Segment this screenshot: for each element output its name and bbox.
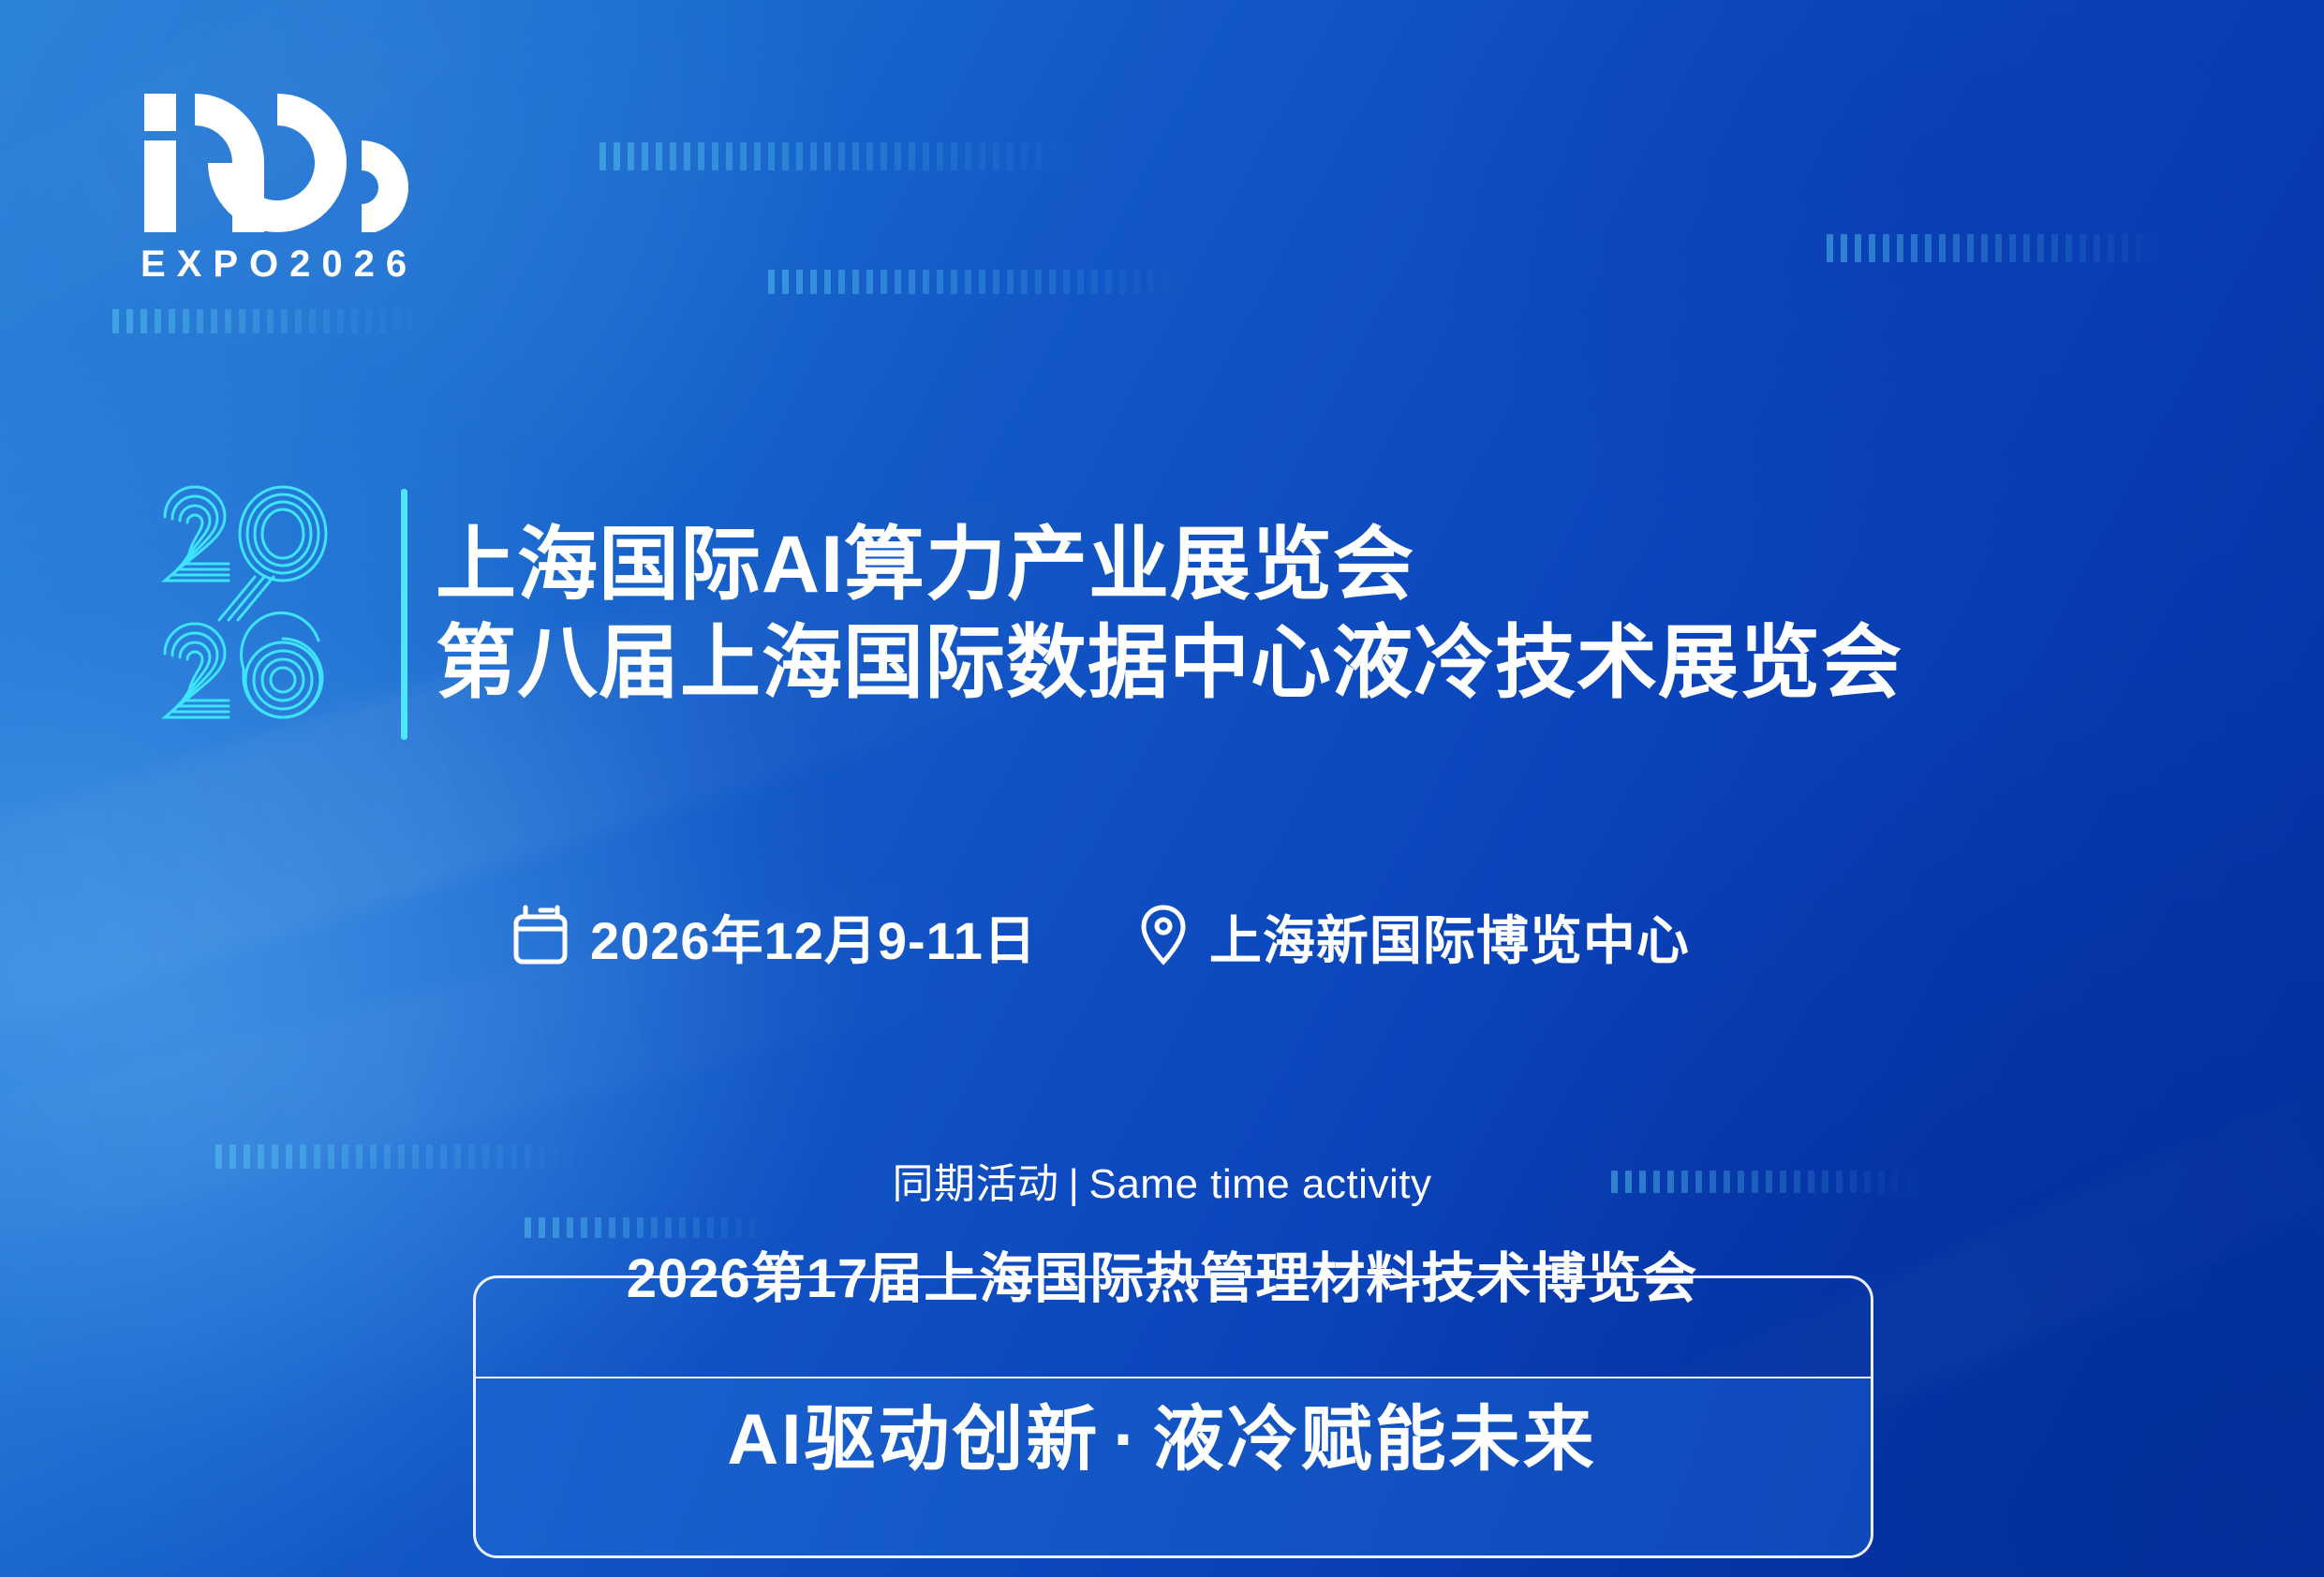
slogan-dot: · — [1100, 1400, 1152, 1480]
event-date-text: 2026年12月9-11日 — [590, 899, 1037, 975]
event-titles: 上海国际AI算力产业展览会 第八届上海国际数据中心液冷技术展览会 — [436, 516, 1902, 713]
slogan-left: AI驱动创新 — [727, 1400, 1100, 1480]
logo-wordmark: EXPO2026 — [141, 245, 450, 283]
event-title-line2: 第八届上海国际数据中心液冷技术展览会 — [436, 614, 1902, 713]
title-accent-rule — [401, 489, 407, 740]
event-title-line1: 上海国际AI算力产业展览会 — [436, 516, 1902, 614]
decor-bars — [112, 309, 414, 333]
same-time-activity-en: Same time activity — [1088, 1161, 1431, 1207]
co-event-slogan: AI驱动创新·液冷赋能未来 — [0, 1381, 2324, 1484]
decor-bars — [768, 270, 1182, 294]
same-time-activity-label: 同期活动|Same time activity — [0, 1150, 2324, 1210]
poster-canvas: EXPO2026 — [0, 0, 2324, 1577]
location-pin-icon — [1140, 904, 1187, 970]
same-time-activity-separator: | — [1059, 1161, 1089, 1207]
decor-bars — [600, 142, 1070, 170]
event-date: 2026年12月9-11日 — [513, 899, 1037, 975]
same-time-activity-cn: 同期活动 — [893, 1161, 1059, 1207]
event-venue: 上海新国际博览中心 — [1140, 899, 1690, 975]
title-block: 上海国际AI算力产业展览会 第八届上海国际数据中心液冷技术展览会 — [157, 479, 1902, 749]
event-venue-text: 上海新国际博览中心 — [1209, 899, 1690, 975]
event-meta-row: 2026年12月9-11日 上海新国际博览中心 — [513, 899, 1690, 975]
decor-bars — [1827, 234, 2156, 262]
co-event-title: 2026第17届上海国际热管理材料技术博览会 — [0, 1234, 2324, 1313]
year-2026-outline-icon — [157, 479, 378, 749]
calendar-icon — [513, 905, 568, 969]
slogan-right: 液冷赋能未来 — [1153, 1400, 1597, 1480]
idc-logo-icon — [141, 82, 450, 232]
brand-logo: EXPO2026 — [141, 82, 450, 283]
